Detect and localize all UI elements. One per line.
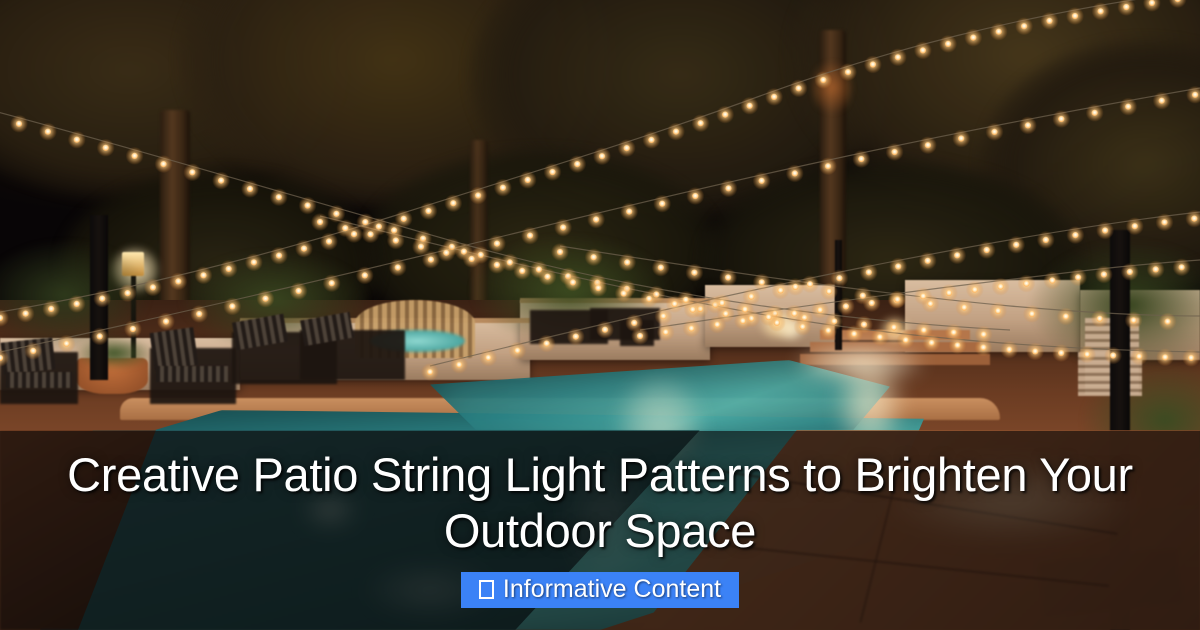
- status-badge: Informative Content: [461, 572, 739, 608]
- hero-text-block: Creative Patio String Light Patterns to …: [0, 431, 1200, 630]
- missing-glyph-box-icon: [479, 580, 494, 599]
- status-badge-label: Informative Content: [503, 576, 721, 602]
- hero-banner: Creative Patio String Light Patterns to …: [0, 0, 1200, 630]
- page-title: Creative Patio String Light Patterns to …: [50, 447, 1150, 559]
